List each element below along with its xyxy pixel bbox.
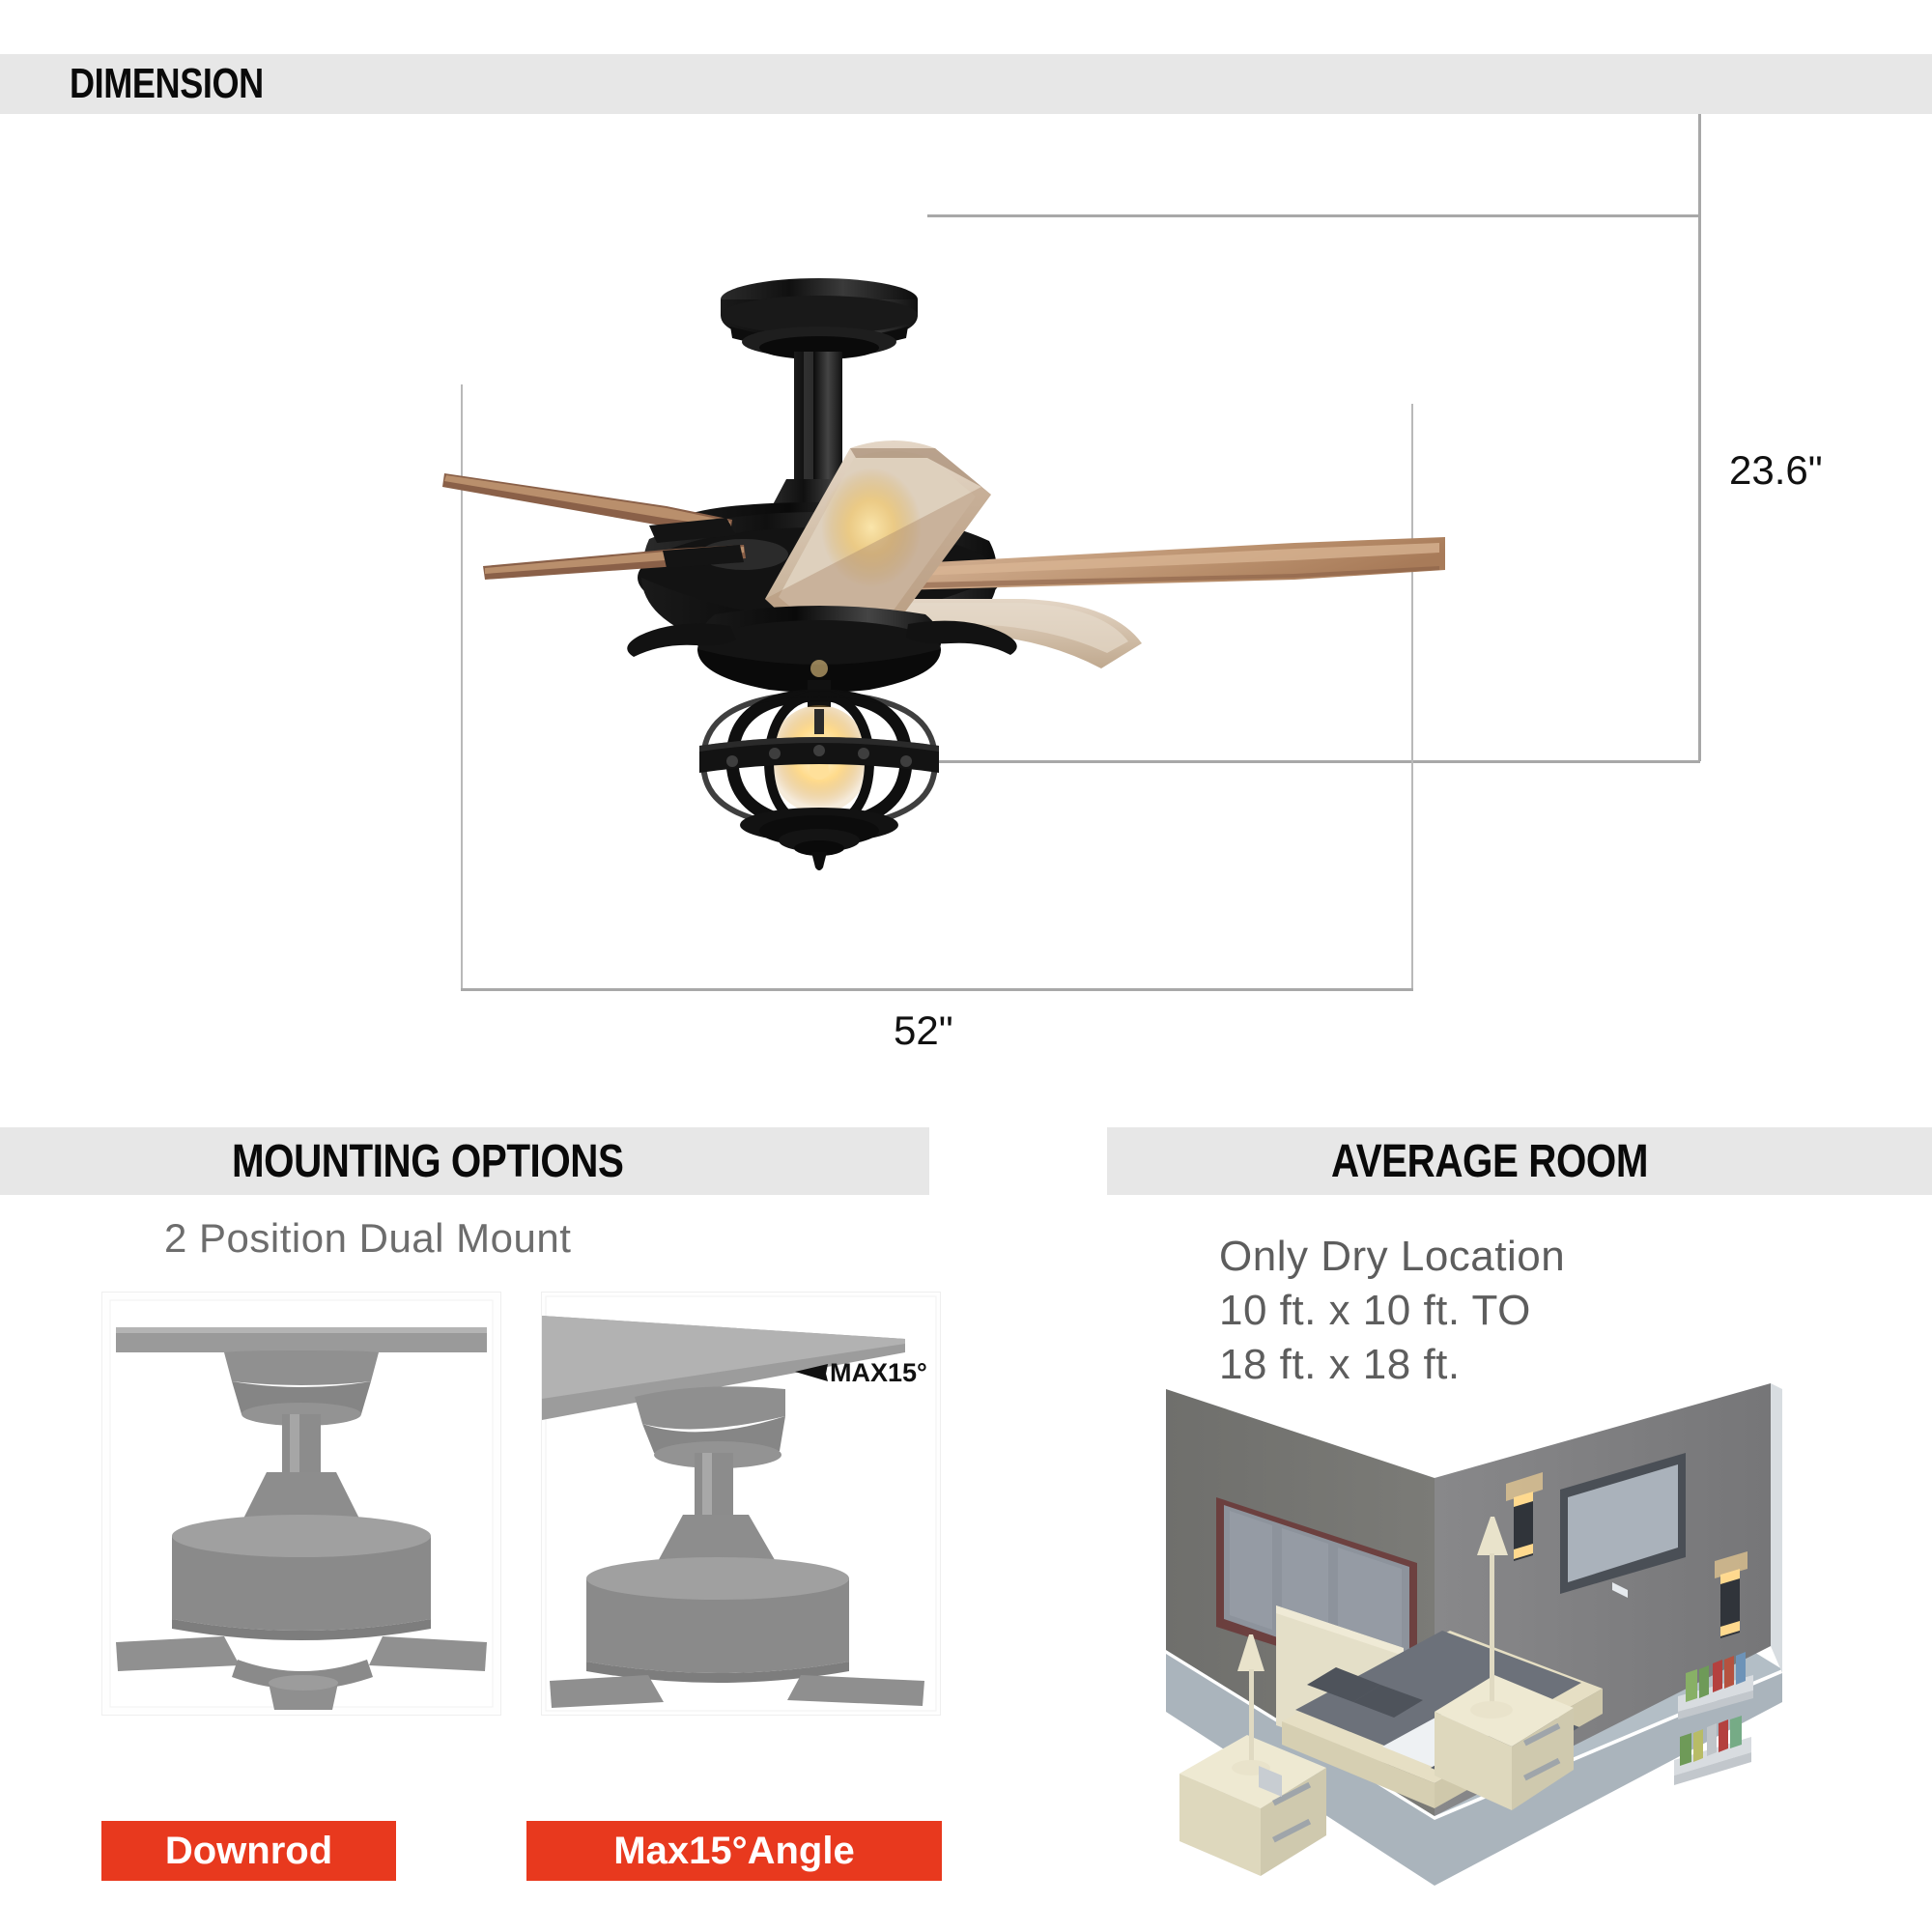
dimension-diagram: 23.6" 52" xyxy=(0,114,1932,1080)
section-title-room: AVERAGE ROOM xyxy=(1331,1135,1648,1188)
dimension-line-height-lower xyxy=(1698,655,1701,761)
section-title-mounting: MOUNTING OPTIONS xyxy=(232,1135,623,1188)
room-spec-line-1: Only Dry Location xyxy=(1219,1233,1565,1281)
mounting-option-button-downrod[interactable]: Downrod xyxy=(101,1821,396,1881)
dimension-width-label: 52" xyxy=(894,1008,953,1054)
dimension-line-height xyxy=(1698,114,1701,655)
dimension-height-label: 23.6" xyxy=(1729,447,1823,494)
section-header-dimension: DIMENSION xyxy=(0,54,1932,114)
mounting-subtitle: 2 Position Dual Mount xyxy=(164,1215,571,1262)
section-header-mounting: MOUNTING OPTIONS xyxy=(0,1127,929,1195)
room-spec-line-3: 18 ft. x 18 ft. xyxy=(1219,1341,1461,1389)
dimension-line-width xyxy=(461,988,1413,991)
mounting-option-button-angle[interactable]: Max15°Angle xyxy=(526,1821,942,1881)
mounting-image-angle: MAX15° xyxy=(541,1292,941,1716)
mounting-image-downrod xyxy=(101,1292,501,1716)
fan-canopy xyxy=(721,278,918,359)
cage-finial xyxy=(811,852,827,870)
ceiling-fan-illustration xyxy=(425,259,1449,877)
svg-text:MAX15°: MAX15° xyxy=(830,1358,927,1387)
section-title-dimension: DIMENSION xyxy=(70,60,264,108)
room-spec-line-2: 10 ft. x 10 ft. TO xyxy=(1219,1287,1531,1335)
dimension-extension-top xyxy=(927,214,1700,217)
section-header-room: AVERAGE ROOM xyxy=(1107,1127,1932,1195)
average-room-illustration xyxy=(1145,1383,1927,1924)
cage-light xyxy=(699,680,939,870)
fan-downrod xyxy=(794,352,842,479)
